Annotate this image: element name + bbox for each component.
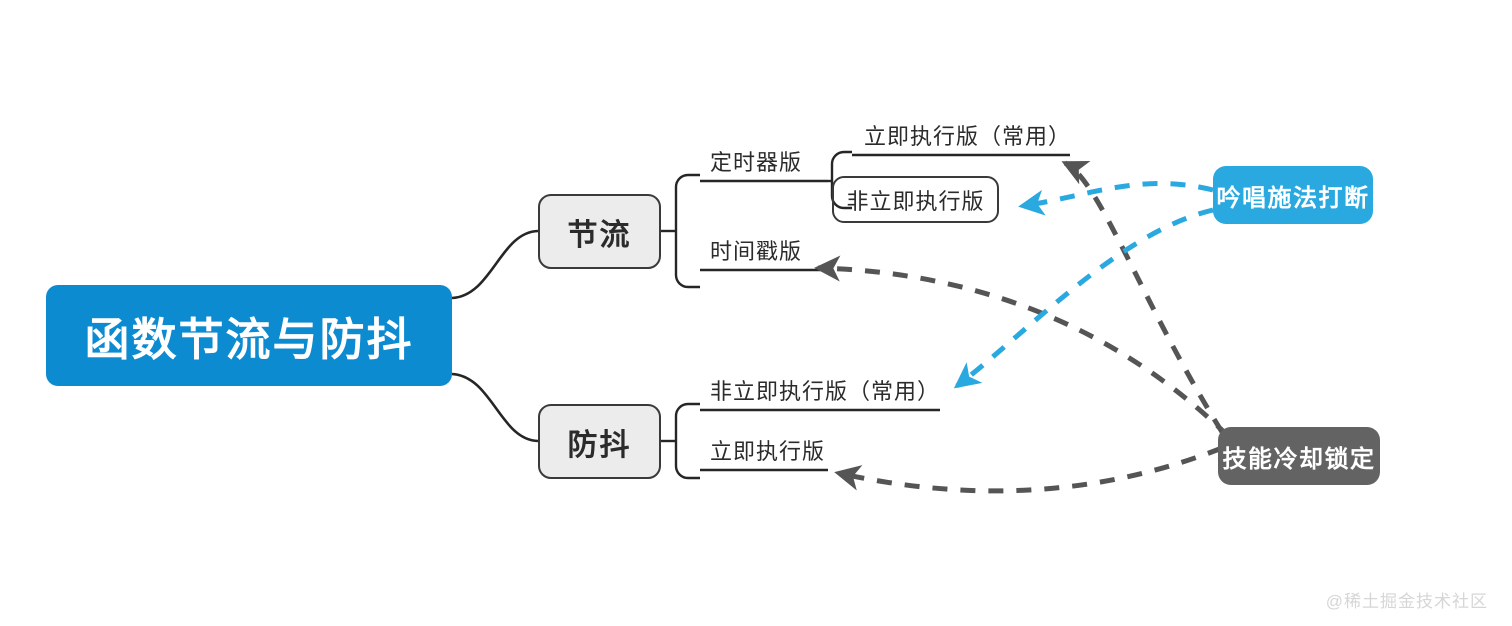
bracket-throttle xyxy=(676,175,700,287)
bracket-debounce xyxy=(676,404,700,478)
branch-node-throttle[interactable]: 节流 xyxy=(538,194,661,269)
connector-root-to-debounce xyxy=(452,374,538,441)
root-node[interactable]: 函数节流与防抖 xyxy=(46,285,452,386)
leaf-throttle-nonimmediate[interactable]: 非立即执行版 xyxy=(832,176,999,223)
link-interrupt-to-debounce-nonimmediate xyxy=(957,210,1213,386)
link-cooldown-to-debounce-immediate xyxy=(838,448,1222,491)
callout-skill-cooldown[interactable]: 技能冷却锁定 xyxy=(1218,427,1380,485)
leaf-debounce-immediate[interactable]: 立即执行版 xyxy=(710,439,825,470)
link-cooldown-to-immediate-common xyxy=(1065,163,1222,432)
leaf-throttle-immediate-common[interactable]: 立即执行版（常用） xyxy=(864,124,1071,155)
leaf-debounce-nonimmediate-common[interactable]: 非立即执行版（常用） xyxy=(710,379,940,410)
leaf-throttle-timer[interactable]: 定时器版 xyxy=(710,150,802,181)
link-interrupt-to-throttle-nonimmediate xyxy=(1022,183,1213,206)
callout-casting-interrupt[interactable]: 吟唱施法打断 xyxy=(1213,166,1373,224)
watermark: @稀土掘金技术社区 xyxy=(1326,587,1488,612)
branch-node-debounce[interactable]: 防抖 xyxy=(538,404,661,479)
connector-root-to-throttle xyxy=(452,231,538,298)
leaf-throttle-timestamp[interactable]: 时间戳版 xyxy=(710,239,802,270)
